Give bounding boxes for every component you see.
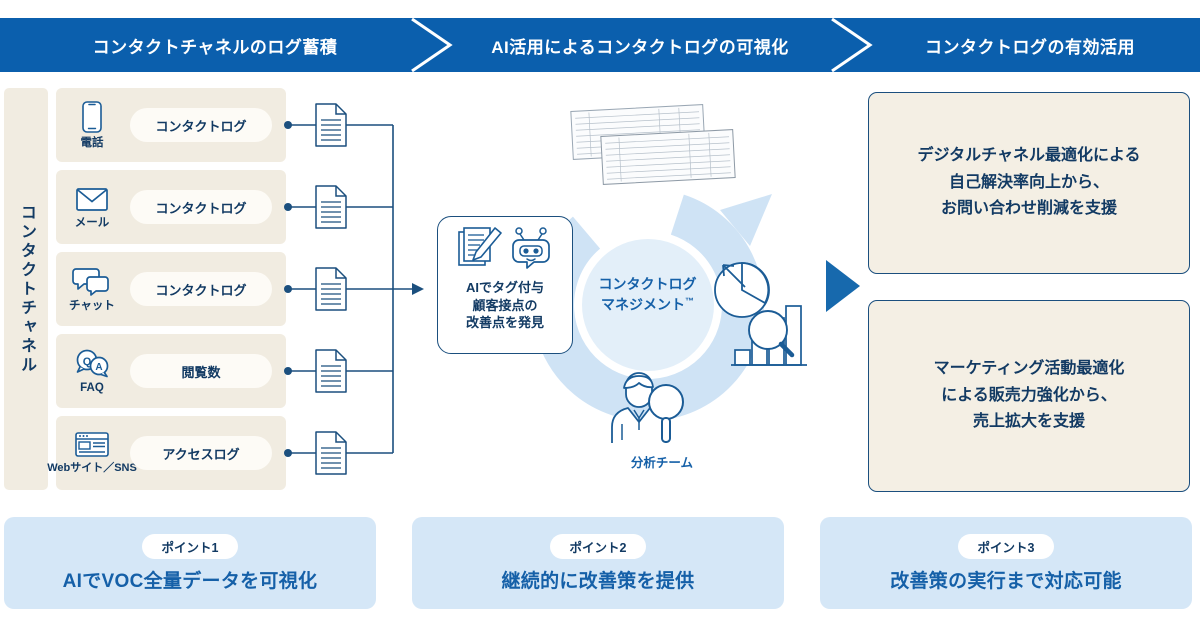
cycle-title-line-2: マネジメント (601, 296, 685, 312)
banner-step-3-label: コンタクトログの有効活用 (925, 33, 1135, 58)
point-badge-2: ポイント2 (550, 534, 647, 559)
outcome-box-1: デジタルチャネル最適化による 自己解決率向上から、 お問い合わせ削減を支援 (868, 92, 1190, 274)
channel-icon-group-website: Webサイト／SNS (56, 431, 128, 475)
channel-name-website: Webサイト／SNS (47, 462, 137, 475)
contact-channel-axis-text: コンタクトチャネル (14, 204, 38, 375)
channel-log-mail: コンタクトログ (130, 190, 272, 224)
outcome-2-line-3: 売上拡大を支援 (934, 409, 1125, 435)
ai-box-text: AIでタグ付与 顧客接点の 改善点を発見 (466, 279, 544, 332)
robot-icon (509, 226, 555, 274)
envelope-icon (74, 184, 110, 214)
channel-icon-group-faq: Q A FAQ (56, 347, 128, 395)
ai-box-icon-group (455, 224, 555, 276)
document-icon (316, 104, 346, 146)
outcome-1-line-3: お問い合わせ削減を支援 (917, 196, 1140, 222)
document-icon (316, 432, 346, 474)
outcome-1-line-2: 自己解決率向上から、 (917, 170, 1140, 196)
contact-channel-axis-label: コンタクトチャネル (4, 88, 48, 490)
document-icon (316, 268, 346, 310)
outcome-box-2: マーケティング活動最適化 による販売力強化から、 売上拡大を支援 (868, 300, 1190, 492)
channel-log-phone: コンタクトログ (130, 108, 272, 142)
chevron-divider-1-icon (404, 18, 464, 72)
channel-row-faq[interactable]: Q A FAQ 閲覧数 (56, 334, 286, 408)
ai-box-line-2: 顧客接点の (466, 297, 544, 315)
cycle-arrowhead-icon (720, 194, 772, 246)
browser-icon (73, 431, 111, 459)
cycle-title: コンタクトログ マネジメント™ (570, 275, 725, 315)
point-title-2: 継続的に改善策を提供 (501, 566, 694, 593)
channel-log-faq: 閲覧数 (130, 354, 272, 388)
banner-step-3: コンタクトログの有効活用 (860, 18, 1200, 72)
channel-row-mail[interactable]: メール コンタクトログ (56, 170, 286, 244)
channel-name-chat: チャット (69, 300, 115, 313)
ai-box-line-1: AIでタグ付与 (466, 279, 544, 297)
document-icon (316, 186, 346, 228)
outcome-box-2-text: マーケティング活動最適化 による販売力強化から、 売上拡大を支援 (934, 356, 1125, 435)
document-pen-icon (455, 226, 505, 274)
point-box-2[interactable]: ポイント2 継続的に改善策を提供 (412, 517, 784, 609)
analyst-person-icon (612, 373, 683, 443)
channel-row-chat[interactable]: チャット コンタクトログ (56, 252, 286, 326)
stage-transition-arrow-icon (826, 260, 860, 312)
faq-icon: Q A (72, 347, 112, 379)
banner-step-2: AI活用によるコンタクトログの可視化 (440, 18, 840, 72)
channel-row-phone[interactable]: 電話 コンタクトログ (56, 88, 286, 162)
ai-box-line-3: 改善点を発見 (466, 314, 544, 332)
ai-tagging-box[interactable]: AIでタグ付与 顧客接点の 改善点を発見 (437, 216, 573, 354)
point-badge-3: ポイント3 (958, 534, 1055, 559)
point-box-1[interactable]: ポイント1 AIでVOC全量データを可視化 (4, 517, 376, 609)
channel-row-website[interactable]: Webサイト／SNS アクセスログ (56, 416, 286, 490)
outcome-2-line-2: による販売力強化から、 (934, 383, 1125, 409)
document-icon-group (316, 104, 346, 474)
banner-step-1: コンタクトチャネルのログ蓄積 (0, 18, 430, 72)
channel-name-faq: FAQ (80, 382, 104, 395)
banner-step-1-label: コンタクトチャネルのログ蓄積 (93, 33, 338, 58)
channel-icon-group-phone: 電話 (56, 100, 128, 150)
channel-icon-group-mail: メール (56, 184, 128, 230)
point-badge-1: ポイント1 (142, 534, 239, 559)
svg-text:A: A (95, 362, 102, 373)
diagram-canvas: コンタクトチャネルのログ蓄積 AI活用によるコンタクトログの可視化 コンタクトロ… (0, 0, 1200, 630)
analyst-team-label: 分析チーム (597, 452, 727, 471)
chevron-divider-2-icon (824, 18, 884, 72)
channel-name-mail: メール (75, 217, 110, 230)
point-title-1: AIでVOC全量データを可視化 (63, 566, 318, 593)
cycle-title-line-2-wrap: マネジメント™ (570, 295, 725, 315)
outcome-1-line-1: デジタルチャネル最適化による (917, 143, 1140, 169)
channel-name-phone: 電話 (81, 137, 104, 150)
channel-icon-group-chat: チャット (56, 265, 128, 313)
banner-step-2-label: AI活用によるコンタクトログの可視化 (491, 33, 789, 58)
chat-bubble-icon (72, 265, 112, 297)
bar-chart-magnifier-icon (731, 306, 807, 365)
point-box-3[interactable]: ポイント3 改善策の実行まで対応可能 (820, 517, 1192, 609)
cycle-title-line-1: コンタクトログ (570, 275, 725, 295)
process-banner: コンタクトチャネルのログ蓄積 AI活用によるコンタクトログの可視化 コンタクトロ… (0, 18, 1200, 72)
point-title-3: 改善策の実行まで対応可能 (890, 566, 1122, 593)
smartphone-icon (79, 100, 105, 134)
flow-arrowhead-icon (412, 283, 424, 295)
outcome-box-1-text: デジタルチャネル最適化による 自己解決率向上から、 お問い合わせ削減を支援 (917, 143, 1140, 222)
document-icon (316, 350, 346, 392)
outcome-2-line-1: マーケティング活動最適化 (934, 356, 1125, 382)
log-sheets-icon (571, 105, 735, 185)
trademark-symbol: ™ (685, 296, 694, 306)
channel-log-chat: コンタクトログ (130, 272, 272, 306)
channel-log-website: アクセスログ (130, 436, 272, 470)
